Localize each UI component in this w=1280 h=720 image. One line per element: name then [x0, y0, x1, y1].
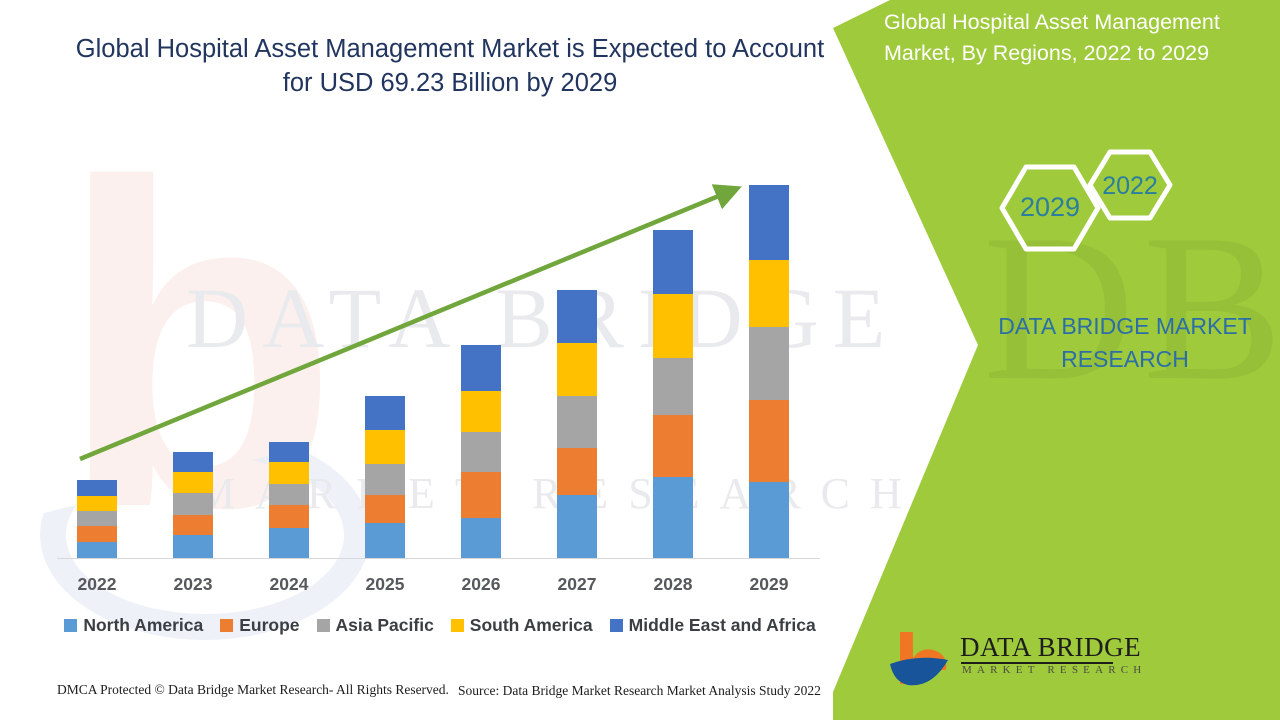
legend-item-south-america[interactable]: South America	[451, 615, 593, 636]
bar-segment-asia-pacific	[173, 493, 213, 515]
x-axis-label-2023: 2023	[145, 574, 241, 595]
hexagon-group: 2029 2022	[980, 135, 1200, 305]
logo-wordmark: DATA BRIDGE	[960, 632, 1141, 663]
legend-item-asia-pacific[interactable]: Asia Pacific	[317, 615, 434, 636]
x-axis-label-2029: 2029	[721, 574, 817, 595]
bar-segment-north-america	[173, 535, 213, 558]
bar-segment-north-america	[557, 495, 597, 558]
footer-source-text: Source: Data Bridge Market Research Mark…	[458, 683, 821, 699]
bar-segment-south-america	[557, 343, 597, 396]
legend-swatch-icon	[451, 619, 464, 632]
bar-2029[interactable]	[749, 185, 789, 558]
x-axis-label-2022: 2022	[49, 574, 145, 595]
bar-segment-south-america	[749, 260, 789, 327]
legend-swatch-icon	[317, 619, 330, 632]
hexagon-2022-label: 2022	[1102, 172, 1158, 200]
bar-segment-south-america	[461, 391, 501, 432]
bar-segment-europe	[653, 415, 693, 477]
bar-segment-north-america	[749, 482, 789, 558]
bar-segment-europe	[557, 448, 597, 495]
bar-2023[interactable]	[173, 452, 213, 558]
footer-dmca-text: DMCA Protected © Data Bridge Market Rese…	[57, 682, 449, 698]
infographic-canvas: b DATA BRIDGE MARKET RESEARCH Global Hos…	[0, 0, 1280, 720]
bar-segment-asia-pacific	[269, 484, 309, 505]
bar-segment-middle-east-and-africa	[557, 290, 597, 343]
legend-label: Middle East and Africa	[629, 615, 816, 636]
brand-name: DATA BRIDGE MARKET RESEARCH	[960, 310, 1280, 375]
bar-segment-south-america	[269, 462, 309, 484]
legend-item-north-america[interactable]: North America	[64, 615, 203, 636]
stacked-bar-chart: 20222023202420252026202720282029	[0, 0, 980, 720]
bar-segment-middle-east-and-africa	[173, 452, 213, 472]
brand-line-2: RESEARCH	[960, 343, 1280, 376]
bar-segment-south-america	[365, 430, 405, 464]
legend-swatch-icon	[220, 619, 233, 632]
legend-label: South America	[470, 615, 593, 636]
bar-segment-north-america	[77, 542, 117, 558]
bar-segment-north-america	[653, 477, 693, 558]
x-axis-label-2028: 2028	[625, 574, 721, 595]
legend-label: Europe	[239, 615, 299, 636]
chart-legend: North AmericaEuropeAsia PacificSouth Ame…	[57, 615, 823, 636]
bar-segment-south-america	[173, 472, 213, 493]
x-axis-label-2024: 2024	[241, 574, 337, 595]
bar-segment-middle-east-and-africa	[365, 396, 405, 430]
bar-segment-asia-pacific	[461, 432, 501, 472]
bar-segment-europe	[269, 505, 309, 528]
bar-segment-europe	[173, 515, 213, 535]
bar-segment-south-america	[77, 496, 117, 511]
hexagon-2029-label: 2029	[1020, 192, 1080, 222]
bar-2022[interactable]	[77, 480, 117, 558]
legend-swatch-icon	[64, 619, 77, 632]
bar-segment-asia-pacific	[749, 327, 789, 400]
dbmr-logo: DATA BRIDGE MARKET RESEARCH	[888, 628, 1118, 690]
bar-segment-north-america	[461, 518, 501, 558]
bar-segment-asia-pacific	[653, 358, 693, 415]
legend-label: North America	[83, 615, 203, 636]
left-chart-panel: b DATA BRIDGE MARKET RESEARCH Global Hos…	[0, 0, 980, 720]
right-panel-title: Global Hospital Asset Management Market,…	[884, 7, 1274, 68]
brand-line-1: DATA BRIDGE MARKET	[960, 310, 1280, 343]
bar-2024[interactable]	[269, 442, 309, 558]
bar-segment-middle-east-and-africa	[653, 230, 693, 294]
bar-segment-middle-east-and-africa	[269, 442, 309, 462]
legend-item-middle-east-and-africa[interactable]: Middle East and Africa	[610, 615, 816, 636]
x-axis-line	[57, 558, 820, 559]
bar-segment-asia-pacific	[557, 396, 597, 448]
bar-segment-europe	[77, 526, 117, 542]
x-axis-label-2027: 2027	[529, 574, 625, 595]
bar-segment-middle-east-and-africa	[461, 345, 501, 391]
x-axis-label-2026: 2026	[433, 574, 529, 595]
bar-segment-north-america	[269, 528, 309, 558]
bar-segment-middle-east-and-africa	[77, 480, 117, 496]
bar-segment-asia-pacific	[77, 511, 117, 526]
bar-segment-middle-east-and-africa	[749, 185, 789, 260]
legend-item-europe[interactable]: Europe	[220, 615, 299, 636]
x-axis-label-2025: 2025	[337, 574, 433, 595]
legend-swatch-icon	[610, 619, 623, 632]
bar-2025[interactable]	[365, 396, 405, 558]
bar-segment-europe	[365, 495, 405, 523]
bar-2026[interactable]	[461, 345, 501, 558]
bar-segment-europe	[749, 400, 789, 482]
legend-label: Asia Pacific	[336, 615, 434, 636]
bar-segment-asia-pacific	[365, 464, 405, 495]
bar-segment-north-america	[365, 523, 405, 558]
bar-segment-europe	[461, 472, 501, 518]
bar-2027[interactable]	[557, 290, 597, 558]
logo-subtitle: MARKET RESEARCH	[962, 664, 1146, 676]
logo-mark-icon	[888, 628, 954, 690]
bar-2028[interactable]	[653, 230, 693, 558]
bar-segment-south-america	[653, 294, 693, 358]
